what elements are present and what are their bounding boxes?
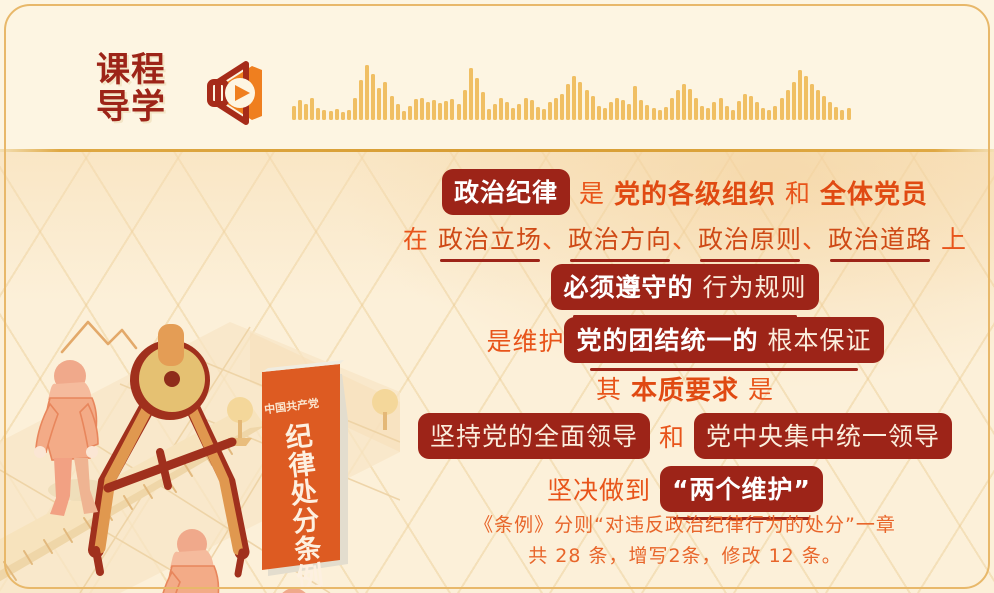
line1-word-he: 和	[785, 174, 811, 210]
waveform-bar	[432, 100, 436, 120]
line2-item-2: 政治原则	[698, 220, 802, 256]
waveform-bar	[822, 96, 826, 120]
logo-line-1: 课程	[96, 52, 188, 88]
line2-item-0: 政治立场	[438, 220, 542, 256]
gold-rule	[0, 149, 994, 152]
waveform-bar	[700, 106, 704, 120]
megaphone-play-icon[interactable]	[200, 58, 276, 128]
waveform-bar	[408, 106, 412, 120]
logo-line-2: 导学	[96, 88, 188, 126]
line3-normal: 行为规则	[703, 268, 807, 304]
audio-waveform	[292, 28, 932, 120]
line7-prefix: 坚决做到	[547, 471, 651, 507]
waveform-bar	[597, 106, 601, 120]
waveform-bar	[298, 100, 302, 120]
line1-party-orgs: 党的各级组织	[614, 174, 776, 211]
waveform-bar	[517, 104, 521, 120]
line1-all-members: 全体党员	[820, 174, 928, 211]
waveform-bar	[731, 110, 735, 120]
content-area: 中国共产党 纪 律 处 分 条 例	[0, 152, 994, 593]
waveform-bar	[840, 110, 844, 120]
waveform-bar	[542, 109, 546, 120]
waveform-bar	[761, 108, 765, 120]
line5-essential-requirement: 本质要求	[631, 370, 739, 407]
waveform-bar	[310, 98, 314, 120]
waveform-bar	[396, 104, 400, 120]
badge-political-discipline: 政治纪律	[442, 169, 570, 215]
line5-word-shi: 是	[748, 370, 774, 406]
header-bar: 课程 导学	[0, 0, 994, 152]
text-line-2: 在 政治立场 、 政治方向 、 政治原则 、 政治道路 上	[385, 215, 985, 261]
waveform-bar	[463, 90, 467, 120]
svg-text:例: 例	[295, 561, 326, 593]
waveform-bar	[688, 89, 692, 120]
waveform-bar	[834, 107, 838, 120]
waveform-bar	[810, 84, 814, 120]
waveform-bar	[603, 108, 607, 120]
text-line-6: 坚持党的全面领导 和 党中央集中统一领导	[385, 411, 985, 461]
waveform-bar	[780, 98, 784, 120]
line2-sep-1: 、	[672, 220, 698, 256]
waveform-bar	[591, 96, 595, 120]
line3-bold: 必须遵守的	[563, 268, 693, 304]
waveform-bar	[645, 105, 649, 120]
waveform-bar	[347, 110, 351, 120]
waveform-bar	[444, 101, 448, 120]
waveform-bar	[353, 98, 357, 120]
waveform-bar	[365, 65, 369, 120]
waveform-bar	[481, 92, 485, 120]
waveform-bar	[414, 99, 418, 120]
waveform-bar	[511, 108, 515, 120]
waveform-bar	[554, 98, 558, 120]
line2-sep-2: 、	[802, 220, 828, 256]
waveform-bar	[676, 90, 680, 120]
waveform-bar	[639, 100, 643, 120]
waveform-bar	[322, 110, 326, 120]
waveform-bar	[652, 108, 656, 120]
waveform-bar	[450, 99, 454, 120]
badge-must-obey-rules: 必须遵守的 行为规则	[551, 264, 818, 310]
line5-word-qi: 其	[596, 370, 622, 406]
line2-prefix: 在	[403, 220, 429, 256]
waveform-bar	[304, 104, 308, 120]
note-line-1: 《条例》分则“对违反政治纪律行为的处分”一章	[385, 510, 985, 541]
waveform-bar	[828, 102, 832, 120]
badge-party-unity: 党的团结统一的 根本保证	[564, 317, 883, 363]
line2-suffix: 上	[941, 220, 967, 256]
waveform-bar	[773, 106, 777, 120]
waveform-bar	[402, 111, 406, 120]
waveform-bar	[786, 90, 790, 120]
waveform-bar	[578, 82, 582, 120]
waveform-bar	[694, 98, 698, 120]
waveform-bar	[469, 68, 473, 120]
waveform-bar	[335, 109, 339, 120]
waveform-bar	[725, 106, 729, 120]
badge-two-safeguards: “两个维护”	[660, 466, 823, 512]
waveform-bar	[329, 111, 333, 120]
line4-bold: 党的团结统一的	[576, 321, 758, 357]
waveform-bar	[621, 100, 625, 120]
waveform-bar	[627, 104, 631, 120]
waveform-bar	[755, 102, 759, 120]
waveform-bar	[359, 80, 363, 120]
waveform-bar	[743, 94, 747, 120]
waveform-bar	[749, 96, 753, 120]
waveform-bar	[426, 102, 430, 120]
line2-item-3: 政治道路	[828, 220, 932, 256]
waveform-bar	[560, 94, 564, 120]
waveform-bar	[682, 84, 686, 120]
waveform-bar	[316, 108, 320, 120]
waveform-bar	[719, 98, 723, 120]
note-line-2: 共 28 条，增写2条，修改 12 条。	[385, 541, 985, 572]
waveform-bar	[383, 82, 387, 120]
waveform-bar	[664, 107, 668, 120]
waveform-bar	[712, 102, 716, 120]
line1-word-shi: 是	[579, 174, 605, 210]
waveform-bar	[572, 76, 576, 120]
badge-central-leadership: 党中央集中统一领导	[694, 413, 952, 459]
line2-item-1: 政治方向	[568, 220, 672, 256]
waveform-bar	[371, 74, 375, 120]
text-line-5: 其 本质要求 是	[385, 367, 985, 409]
waveform-bar	[341, 112, 345, 120]
footer-note: 《条例》分则“对违反政治纪律行为的处分”一章 共 28 条，增写2条，修改 12…	[385, 510, 985, 572]
text-line-3: 必须遵守的 行为规则	[385, 261, 985, 313]
text-line-4: 是维护 党的团结统一的 根本保证	[385, 315, 985, 365]
waveform-bar	[609, 102, 613, 120]
waveform-bar	[816, 90, 820, 120]
waveform-bar	[420, 98, 424, 120]
waveform-bar	[524, 98, 528, 120]
waveform-bar	[377, 88, 381, 120]
waveform-bar	[658, 110, 662, 120]
waveform-bar	[670, 98, 674, 120]
waveform-bar	[475, 78, 479, 120]
waveform-bar	[499, 98, 503, 120]
waveform-bar	[633, 86, 637, 120]
waveform-bar	[585, 90, 589, 120]
waveform-bar	[737, 101, 741, 120]
poster-canvas: 课程 导学	[0, 0, 994, 593]
waveform-bar	[706, 108, 710, 120]
waveform-bar	[493, 104, 497, 120]
line4-prefix: 是维护	[486, 322, 564, 358]
line4-normal: 根本保证	[768, 321, 872, 357]
waveform-bar	[548, 102, 552, 120]
badge-overall-leadership: 坚持党的全面领导	[418, 413, 650, 459]
waveform-bar	[847, 108, 851, 120]
course-guide-logo: 课程 导学	[96, 52, 188, 144]
waveform-bar	[530, 100, 534, 120]
text-line-1: 政治纪律 是 党的各级组织 和 全体党员	[385, 168, 985, 216]
book: 中国共产党 纪 律 处 分 条 例	[262, 360, 348, 593]
line6-word-he: 和	[659, 418, 685, 454]
waveform-bar	[457, 104, 461, 120]
waveform-bar	[792, 82, 796, 120]
waveform-bar	[487, 109, 491, 120]
waveform-bar	[390, 96, 394, 120]
waveform-bar	[798, 70, 802, 120]
text-line-7: 坚决做到 “两个维护”	[385, 463, 985, 515]
isometric-compass-scene: 中国共产党 纪 律 处 分 条 例	[0, 152, 400, 593]
waveform-bar	[804, 76, 808, 120]
waveform-bar	[615, 98, 619, 120]
waveform-bar	[292, 106, 296, 120]
line2-sep-0: 、	[542, 220, 568, 256]
waveform-bar	[566, 84, 570, 120]
waveform-bar	[536, 107, 540, 120]
waveform-bar	[767, 110, 771, 120]
waveform-bar	[505, 102, 509, 120]
waveform-bar	[438, 103, 442, 120]
